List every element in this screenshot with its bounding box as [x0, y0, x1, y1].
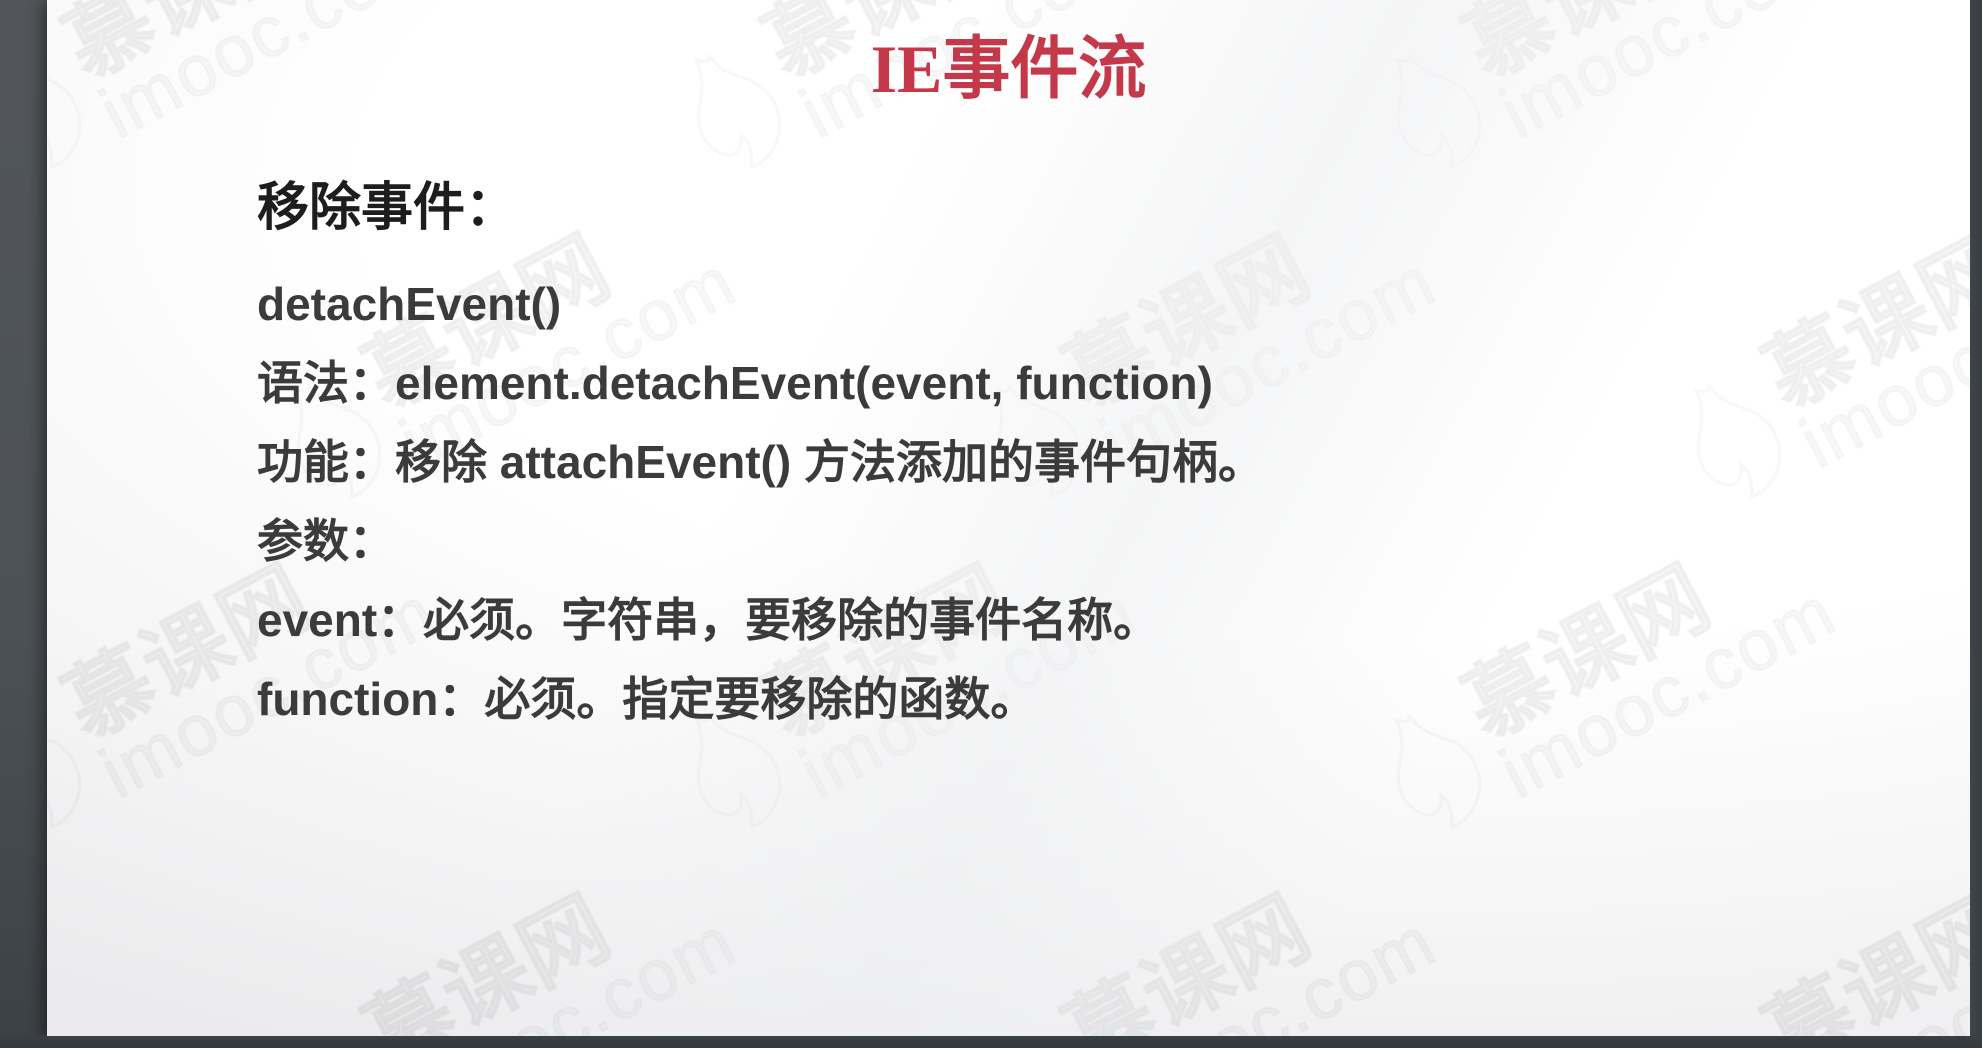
- watermark-en-label: imooc.com: [391, 908, 745, 1036]
- flame-icon: [47, 690, 110, 852]
- frame-bottom-edge: [0, 1036, 1982, 1048]
- watermark-imooc: 慕课网imooc.com: [261, 838, 746, 1036]
- watermark-cn-label: 慕课网: [1054, 838, 1414, 1036]
- watermark-text: 慕课网imooc.com: [1054, 838, 1445, 1036]
- watermark-en-label: imooc.com: [1791, 908, 1970, 1036]
- body-line-5: event：必须。字符串，要移除的事件名称。: [257, 581, 1817, 660]
- body-line-6: function：必须。指定要移除的函数。: [257, 660, 1817, 739]
- watermark-text: 慕课网imooc.com: [1754, 838, 1970, 1036]
- watermark-en-label: imooc.com: [1791, 248, 1970, 478]
- watermark-en-label: imooc.com: [1091, 908, 1445, 1036]
- slide-body: 移除事件： detachEvent() 语法：element.detachEve…: [257, 175, 1817, 739]
- slide-viewer: 慕课网imooc.com慕课网imooc.com慕课网imooc.com慕课网i…: [0, 0, 1982, 1048]
- flame-icon: [264, 1020, 411, 1036]
- watermark-imooc: 慕课网imooc.com: [1661, 838, 1970, 1036]
- watermark-cn-label: 慕课网: [1754, 838, 1970, 1036]
- body-line-4: 参数：: [257, 502, 1817, 581]
- body-line-3: 功能：移除 attachEvent() 方法添加的事件句柄。: [257, 423, 1817, 502]
- flame-icon: [964, 1020, 1111, 1036]
- body-heading: 移除事件：: [257, 175, 1817, 243]
- watermark-text: 慕课网imooc.com: [354, 838, 745, 1036]
- flame-icon: [1664, 1020, 1811, 1036]
- body-line-1: detachEvent(): [257, 265, 1817, 344]
- frame-right-edge: [1970, 0, 1982, 1048]
- body-line-2: 语法：element.detachEvent(event, function): [257, 344, 1817, 423]
- watermark-cn-label: 慕课网: [354, 838, 714, 1036]
- slide-canvas: 慕课网imooc.com慕课网imooc.com慕课网imooc.com慕课网i…: [47, 0, 1970, 1036]
- slide-title: IE事件流: [47, 34, 1970, 105]
- watermark-imooc: 慕课网imooc.com: [961, 838, 1446, 1036]
